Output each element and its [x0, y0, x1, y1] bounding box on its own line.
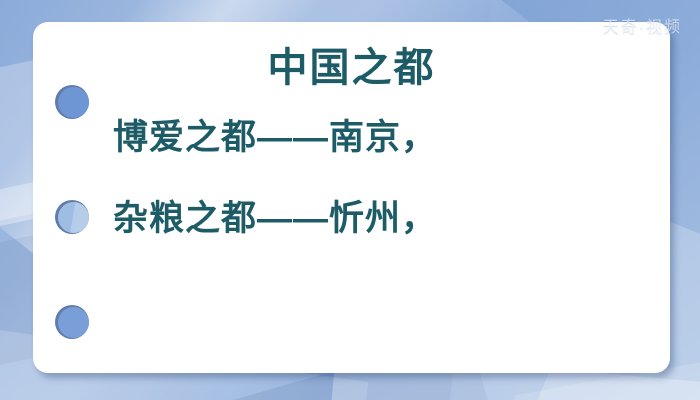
binder-hole-middle-icon: [55, 200, 89, 234]
binder-hole-bottom-icon: [55, 305, 89, 339]
binder-hole-top-face: [58, 87, 89, 118]
slide-canvas: 中国之都 博爱之都——南京， 杂粮之都——忻州， 天奇·视频: [0, 0, 700, 400]
binder-hole-middle-face: [58, 202, 89, 233]
note-card: 中国之都 博爱之都——南京， 杂粮之都——忻州，: [33, 22, 670, 373]
slide-title: 中国之都: [33, 48, 670, 88]
slide-body: 博爱之都——南京， 杂粮之都——忻州，: [113, 120, 603, 282]
slide-body-line: 博爱之都——南京，: [113, 120, 603, 155]
binder-hole-top-icon: [55, 85, 89, 119]
slide-body-line: 杂粮之都——忻州，: [113, 201, 603, 236]
binder-hole-bottom-face: [58, 307, 89, 338]
